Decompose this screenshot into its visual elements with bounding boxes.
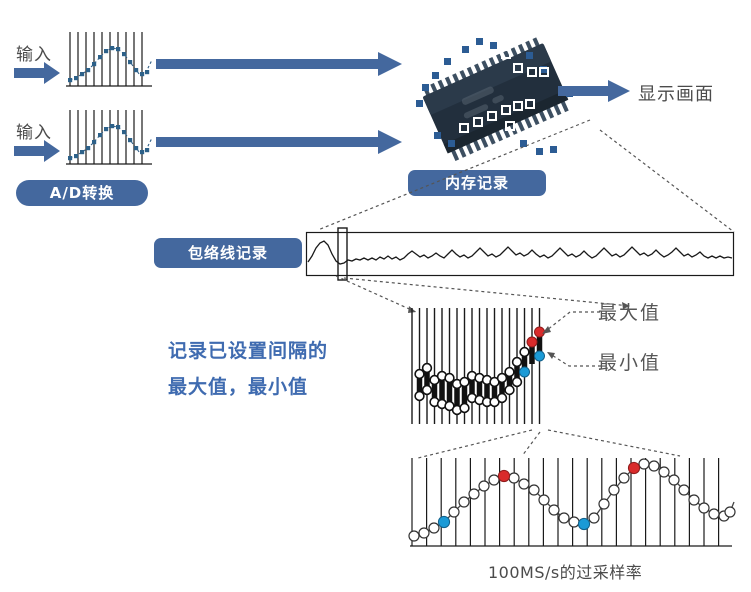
- diagram-canvas: 输入: [0, 0, 751, 592]
- oversampling-chart: [408, 456, 734, 552]
- max-marker: [628, 462, 639, 473]
- min-marker: [438, 516, 449, 527]
- ad-waveform-panel-1: [66, 30, 152, 92]
- annotation-leader-max: [540, 310, 604, 342]
- max-marker: [498, 470, 509, 481]
- flow-arrow-1: [156, 52, 402, 76]
- min-marker: [578, 518, 589, 529]
- minmax-interval-chart: [408, 306, 548, 428]
- annotation-leader-min: [545, 348, 605, 372]
- min-marker: [520, 367, 530, 377]
- output-label: 显示画面: [638, 80, 714, 106]
- input-arrow-2: [14, 140, 60, 162]
- oversampling-caption: 100MS/s的过采样率: [488, 559, 642, 583]
- note-line-1: 记录已设置间隔的: [168, 336, 328, 367]
- zoom-connector-chip-to-envelope: [300, 120, 740, 240]
- annotation-min-label: 最小值: [598, 348, 661, 375]
- badge-envelope-record: 包络线记录: [154, 238, 302, 268]
- envelope-record-panel: [306, 232, 734, 276]
- max-marker: [527, 337, 537, 347]
- badge-ad-conversion: A/D转换: [16, 180, 148, 206]
- input-arrow-1: [14, 62, 60, 84]
- min-marker: [535, 351, 545, 361]
- output-arrow: [558, 80, 630, 102]
- ad-waveform-panel-2: [66, 108, 152, 170]
- note-line-2: 最大值，最小值: [168, 372, 308, 403]
- annotation-max-label: 最大值: [598, 298, 661, 325]
